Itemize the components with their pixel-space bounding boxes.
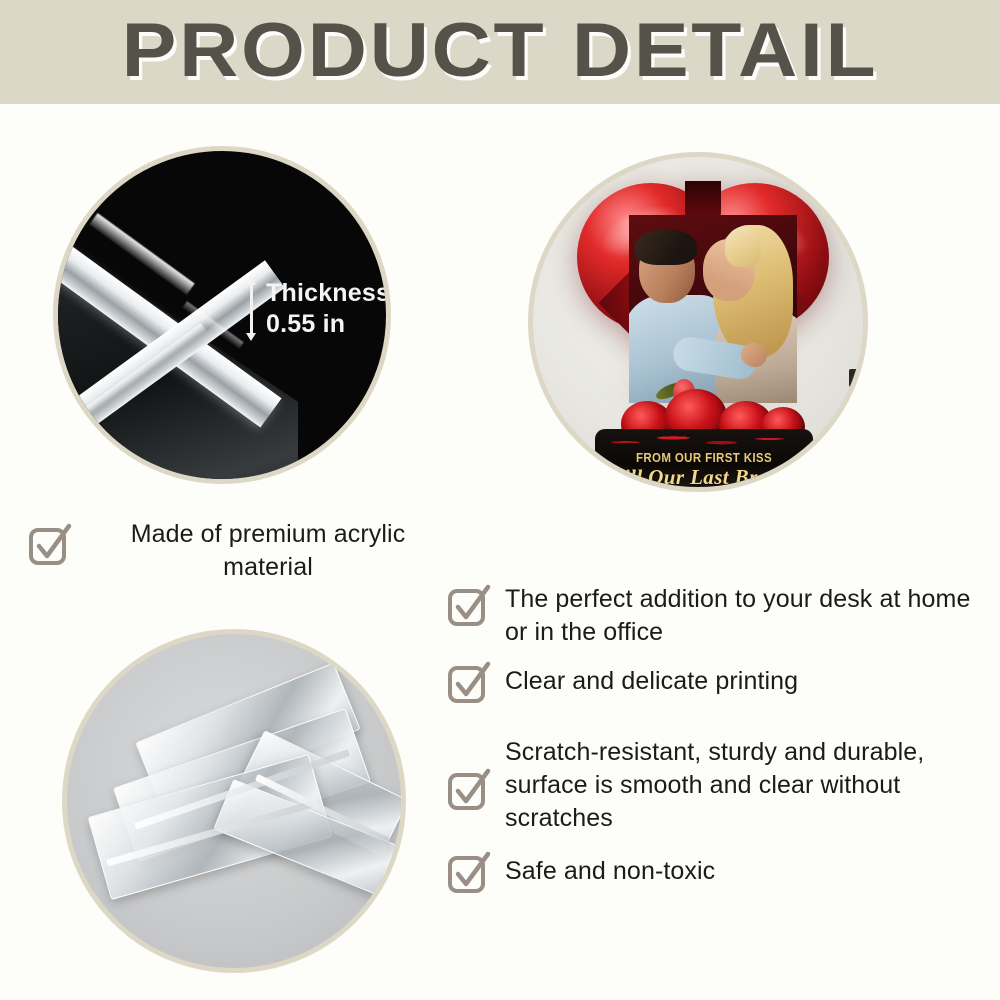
- feature-label: Made of premium acrylic material: [88, 518, 448, 584]
- base-reflection: [607, 487, 799, 492]
- thickness-label-line2: 0.55 in: [266, 309, 390, 340]
- base-engraving-line-1: FROM OUR FIRST KISS: [604, 451, 805, 465]
- checkbox-checked-icon: [447, 585, 489, 627]
- checkbox-checked-icon: [28, 524, 70, 566]
- feature-label: Clear and delicate printing: [505, 665, 798, 698]
- feature-item-safe-non-toxic: Safe and non-toxic: [447, 855, 992, 894]
- thickness-annotation: Thickness 0.55 in: [244, 277, 390, 341]
- feature-label: The perfect addition to your desk at hom…: [505, 583, 992, 649]
- feature-item-scratch-resistant: Scratch-resistant, sturdy and durable, s…: [447, 736, 992, 835]
- product-base: FROM OUR FIRST KISS Till Our Last Breath: [595, 429, 813, 492]
- thickness-label-line1: Thickness: [266, 278, 390, 309]
- page-title: PRODUCT DETAIL: [0, 8, 1000, 94]
- acrylic-sheets-photo: [62, 629, 406, 973]
- feature-label: Safe and non-toxic: [505, 855, 715, 888]
- thickness-photo: Thickness 0.55 in: [53, 146, 391, 484]
- checkbox-checked-icon: [447, 852, 489, 894]
- checkbox-checked-icon: [447, 662, 489, 704]
- thickness-label: Thickness 0.55 in: [266, 278, 390, 340]
- checkbox-checked-icon: [447, 769, 489, 811]
- heart-product-photo: FROM OUR FIRST KISS Till Our Last Breath: [528, 152, 868, 492]
- feature-item-premium-acrylic: Made of premium acrylic material: [28, 518, 458, 584]
- feature-item-clear-printing: Clear and delicate printing: [447, 665, 992, 704]
- couple-photo: [629, 215, 797, 403]
- heart-product-illustration: FROM OUR FIRST KISS Till Our Last Breath: [533, 157, 863, 487]
- base-notch: [849, 369, 861, 387]
- feature-label: Scratch-resistant, sturdy and durable, s…: [505, 736, 992, 835]
- feature-item-desk-addition: The perfect addition to your desk at hom…: [447, 583, 992, 649]
- double-arrow-vertical-icon: [244, 277, 258, 341]
